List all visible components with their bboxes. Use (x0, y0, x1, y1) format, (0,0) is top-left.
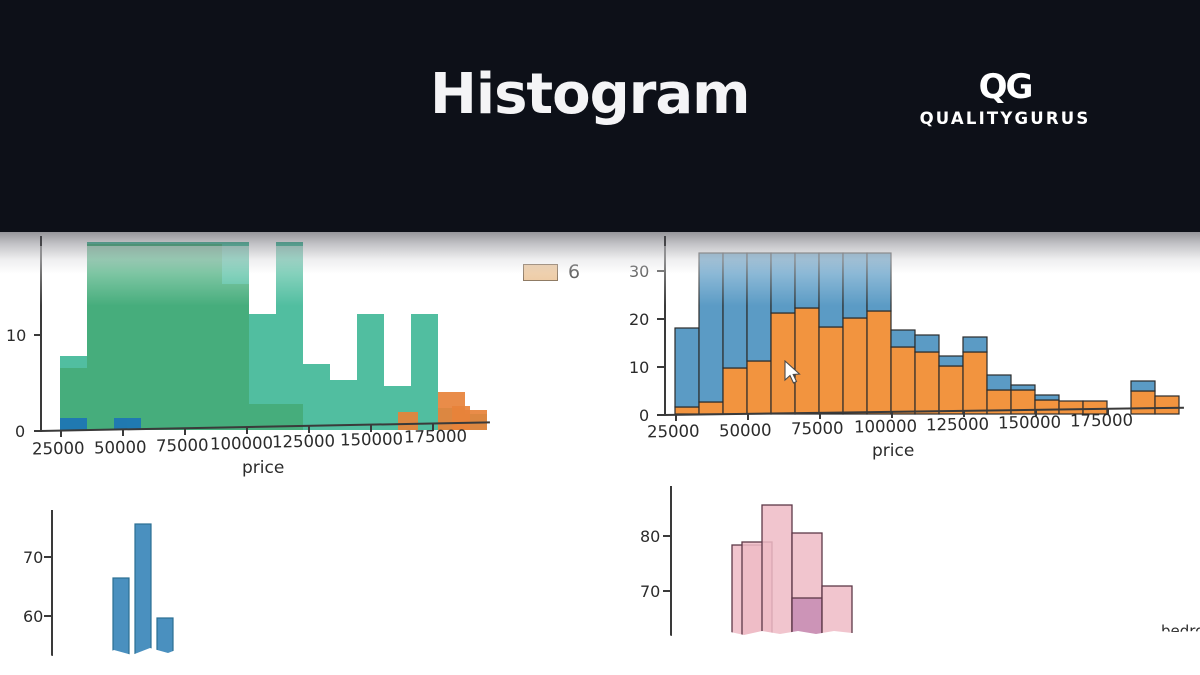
top-right-ytick-label-30: 30 (629, 262, 649, 281)
top-right-ytick-label-20: 20 (629, 310, 649, 329)
bottom-right-ytick-70 (663, 590, 671, 592)
top-right-xtick-0 (675, 414, 677, 421)
top-left-ytick-label-0: 0 (15, 422, 25, 441)
top-left-ytick-0 (34, 430, 41, 432)
page-title: Histogram (430, 62, 749, 127)
bottom-left-ytick-label-60: 60 (23, 607, 43, 626)
top-left-xtick-label-1: 50000 (94, 438, 147, 458)
top-right-xtick-label-2: 75000 (791, 419, 844, 439)
top-right-xtick-label-1: 50000 (719, 421, 772, 441)
top-left-xtick-label-6: 175000 (404, 426, 467, 446)
top-left-xlabel: price (242, 458, 284, 478)
top-right-ytick-30 (657, 270, 665, 272)
top-left-xtick-label-4: 125000 (272, 431, 335, 451)
legend-label-6: 6 (568, 261, 580, 283)
top-left-xtick-1 (122, 429, 124, 436)
brand-logo: QG QUALITYGURUS (905, 68, 1105, 129)
torn-paper-edge (0, 631, 1200, 675)
top-left-ytick-10 (34, 334, 41, 336)
top-right-ytick-20 (657, 318, 665, 320)
top-left-tail (0, 236, 520, 441)
top-right-xtick-label-4: 125000 (926, 415, 989, 435)
top-left-xtick-2 (184, 428, 186, 435)
top-right-bars (620, 236, 1200, 436)
bottom-left-ytick-70 (44, 556, 52, 558)
bottom-left-ytick-label-70: 70 (23, 548, 43, 567)
top-right-xtick-label-3: 100000 (854, 417, 917, 437)
top-right-xtick-1 (747, 413, 749, 420)
top-left-xtick-label-0: 25000 (32, 439, 85, 459)
top-right-xtick-label-0: 25000 (647, 422, 700, 442)
legend-swatch-6 (523, 264, 558, 281)
top-left-xtick-0 (60, 430, 62, 437)
chart-top-right: 0 10 20 30 25000 50000 75000 100000 1250… (620, 236, 1200, 476)
top-left-ytick-label-10: 10 (6, 326, 26, 345)
top-right-ytick-0 (657, 414, 665, 416)
bottom-left-ytick-60 (44, 615, 52, 617)
top-left-xtick-label-2: 75000 (156, 436, 209, 456)
bottom-right-ytick-label-70: 70 (640, 582, 660, 601)
bottom-right-ytick-label-80: 80 (640, 527, 660, 546)
top-right-xtick-label-6: 175000 (1070, 411, 1133, 431)
qg-monogram-icon: QG (905, 68, 1105, 106)
top-left-xtick-label-3: 100000 (210, 433, 273, 453)
top-left-xtick-label-5: 150000 (340, 429, 403, 449)
header-band: Histogram QG QUALITYGURUS (0, 0, 1200, 232)
top-right-y-axis (664, 236, 666, 416)
bottom-right-ytick-80 (663, 535, 671, 537)
brand-name: QUALITYGURUS (905, 109, 1105, 129)
top-right-xtick-label-5: 150000 (998, 413, 1061, 433)
screenshot-page: 0 10 25000 50000 75000 100000 125000 150… (0, 0, 1200, 675)
mouse-cursor (783, 360, 805, 388)
top-right-ytick-10 (657, 366, 665, 368)
top-right-xlabel: price (872, 441, 914, 461)
top-right-ytick-label-10: 10 (629, 358, 649, 377)
chart-top-left: 0 10 25000 50000 75000 100000 125000 150… (0, 236, 520, 476)
